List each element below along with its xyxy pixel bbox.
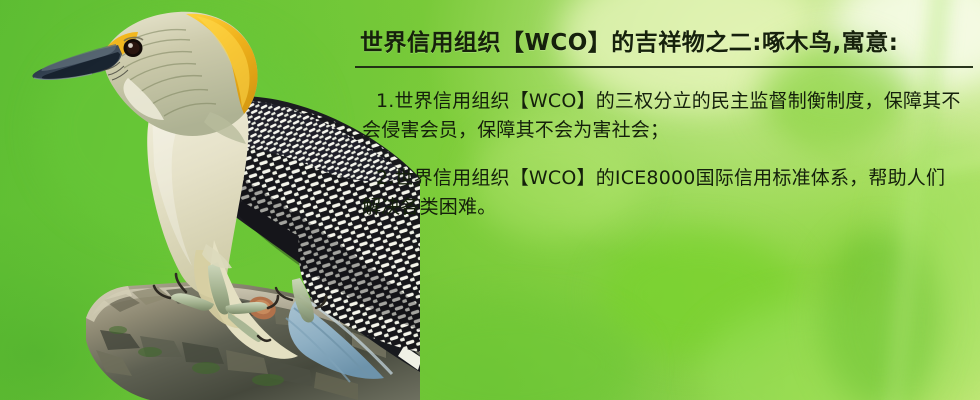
page-title: 世界信用组织【WCO】的吉祥物之二:啄木鸟,寓意: bbox=[360, 26, 978, 60]
title-underline bbox=[355, 66, 973, 68]
list-item: 1.世界信用组织【WCO】的三权分立的民主监督制衡制度，保障其不会侵害会员，保障… bbox=[362, 87, 962, 145]
banner-text-column: 世界信用组织【WCO】的吉祥物之二:啄木鸟,寓意: 1.世界信用组织【WCO】的… bbox=[352, 26, 978, 227]
mascot-meaning-list: 1.世界信用组织【WCO】的三权分立的民主监督制衡制度，保障其不会侵害会员，保障… bbox=[362, 87, 978, 222]
bird-head bbox=[32, 12, 257, 144]
list-item: 2.世界信用组织【WCO】的ICE8000国际信用标准体系，帮助人们解决各类困难… bbox=[362, 164, 962, 222]
wco-mascot-banner: 世界信用组织【WCO】的吉祥物之二:啄木鸟,寓意: 1.世界信用组织【WCO】的… bbox=[0, 0, 980, 400]
